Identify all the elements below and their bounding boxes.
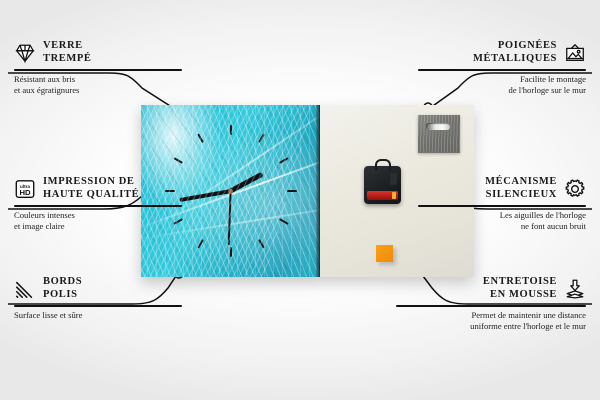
orange-foam-spacer xyxy=(376,245,393,262)
feature-rule xyxy=(14,69,182,71)
feature-desc: Facilite le montage de l'horloge sur le … xyxy=(418,74,586,95)
mechanism-loop xyxy=(375,159,391,170)
feature-rule xyxy=(418,69,586,71)
feature-desc: Couleurs intenses et image claire xyxy=(14,210,182,231)
feature-rule xyxy=(418,205,586,207)
feature-title: POIGNÉES MÉTALLIQUES xyxy=(473,40,557,65)
feature-impression-haute-qualite: ultra HD IMPRESSION DE HAUTE QUALITÉ Cou… xyxy=(14,176,182,231)
metal-hanging-plate-icon xyxy=(418,115,460,153)
mechanism-knob xyxy=(390,173,397,185)
svg-text:HD: HD xyxy=(19,188,31,197)
aa-battery xyxy=(367,191,398,200)
feature-rule xyxy=(14,305,182,307)
feature-desc: Permet de maintenir une distance uniform… xyxy=(396,310,586,331)
feature-desc: Surface lisse et sûre xyxy=(14,310,182,321)
feature-title: MÉCANISME SILENCIEUX xyxy=(485,176,557,201)
feature-title: ENTRETOISE EN MOUSSE xyxy=(483,276,557,301)
clock-hour-hand xyxy=(229,172,263,193)
clock-mechanism xyxy=(364,166,401,204)
feature-title: BORDS POLIS xyxy=(43,276,82,301)
feature-title: VERRE TREMPÉ xyxy=(43,40,92,65)
infographic-canvas: VERRE TREMPÉ Résistant aux bris et aux é… xyxy=(0,0,600,400)
keyhole-slot xyxy=(426,123,450,130)
gear-icon xyxy=(564,178,586,200)
picture-frame-hanger-icon xyxy=(564,42,586,64)
polished-edge-icon xyxy=(14,278,36,300)
feature-desc: Les aiguilles de l'horloge ne font aucun… xyxy=(418,210,586,231)
feature-rule xyxy=(14,205,182,207)
feature-poignees-metalliques: POIGNÉES MÉTALLIQUES Facilite le montage… xyxy=(418,40,586,95)
feature-bords-polis: BORDS POLIS Surface lisse et sûre xyxy=(14,276,182,321)
ultra-hd-icon: ultra HD xyxy=(14,178,36,200)
feature-verre-trempe: VERRE TREMPÉ Résistant aux bris et aux é… xyxy=(14,40,182,95)
foam-spacer-arrow-icon xyxy=(564,278,586,300)
feature-title: IMPRESSION DE HAUTE QUALITÉ xyxy=(43,176,139,201)
feature-mecanisme-silencieux: MÉCANISME SILENCIEUX Les aiguilles de l'… xyxy=(418,176,586,231)
feature-rule xyxy=(396,305,586,307)
clock-center-cap xyxy=(228,189,233,194)
clock-second-hand xyxy=(228,191,231,245)
feature-entretoise-en-mousse: ENTRETOISE EN MOUSSE Permet de maintenir… xyxy=(396,276,586,331)
clock-minute-hand xyxy=(179,189,231,202)
diamond-icon xyxy=(14,42,36,64)
feature-desc: Résistant aux bris et aux égratignures xyxy=(14,74,182,95)
